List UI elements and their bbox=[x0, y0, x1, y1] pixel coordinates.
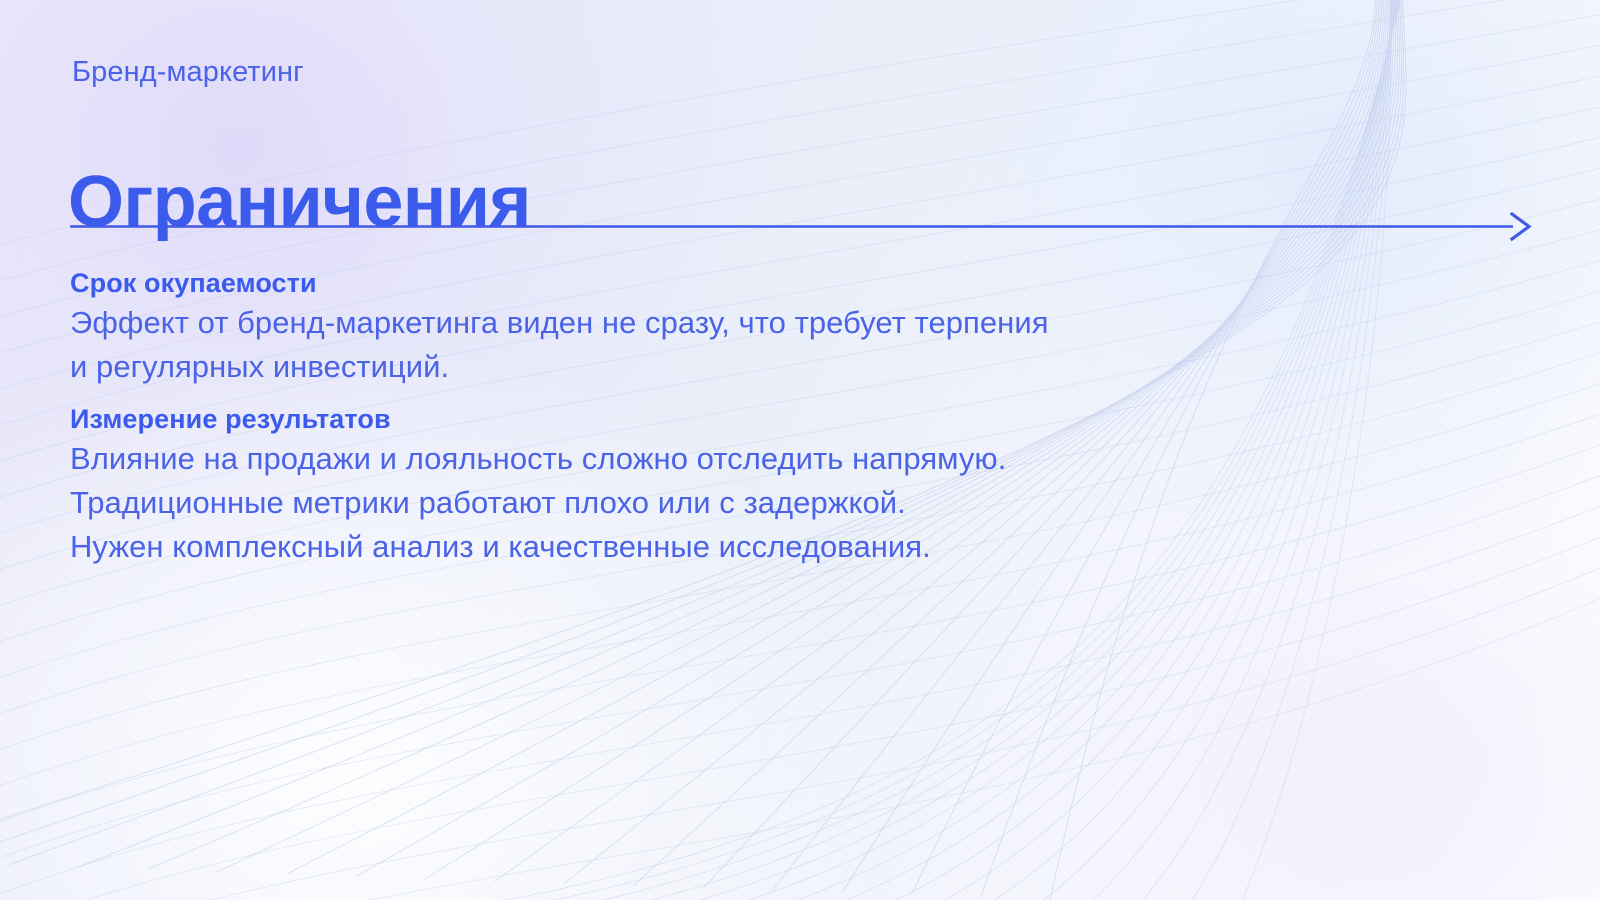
section-measuring-results: Измерение результатов Влияние на продажи… bbox=[70, 404, 1490, 569]
section-body: Эффект от бренд-маркетинга виден не сраз… bbox=[70, 301, 1490, 389]
section-heading: Измерение результатов bbox=[70, 404, 1490, 435]
divider-rule bbox=[70, 212, 1532, 242]
body-line: и регулярных инвестиций. bbox=[70, 345, 1490, 389]
arrow-right-icon bbox=[1512, 214, 1529, 239]
body-line: Традиционные метрики работают плохо или … bbox=[70, 481, 1490, 525]
section-body: Влияние на продажи и лояльность сложно о… bbox=[70, 437, 1490, 569]
section-payback-period: Срок окупаемости Эффект от бренд-маркети… bbox=[70, 268, 1490, 389]
body-line: Нужен комплексный анализ и качественные … bbox=[70, 525, 1490, 569]
slide-content: Бренд-маркетинг Ограничения Срок окупаем… bbox=[0, 0, 1600, 900]
section-heading: Срок окупаемости bbox=[70, 268, 1490, 299]
body-line: Влияние на продажи и лояльность сложно о… bbox=[70, 437, 1490, 481]
body-line: Эффект от бренд-маркетинга виден не сраз… bbox=[70, 301, 1490, 345]
slide-eyebrow: Бренд-маркетинг bbox=[72, 56, 304, 89]
slide-canvas: Бренд-маркетинг Ограничения Срок окупаем… bbox=[0, 0, 1600, 900]
